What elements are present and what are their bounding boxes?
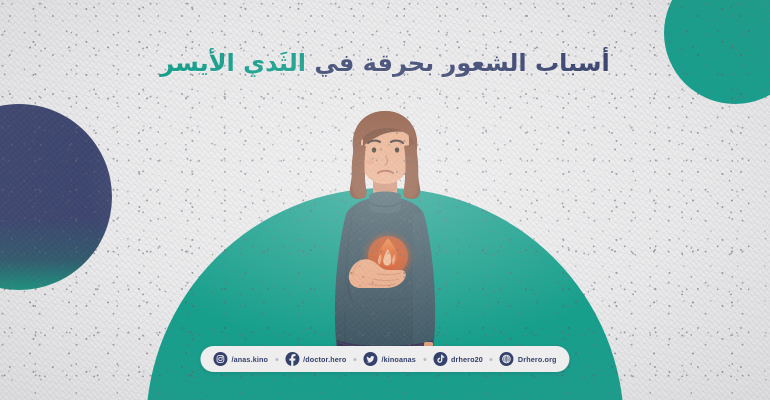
instagram-icon xyxy=(213,352,227,366)
facebook-icon xyxy=(285,352,299,366)
social-label-facebook: /doctor.hero xyxy=(303,355,346,364)
social-separator xyxy=(353,358,356,361)
social-item-facebook[interactable]: /doctor.hero xyxy=(285,352,346,366)
health-infographic-banner: أسباب الشعور بحرقة في الثَدي الأيسر xyxy=(0,0,770,400)
social-item-website[interactable]: Drhero.org xyxy=(500,352,557,366)
social-label-tiktok: drhero20 xyxy=(451,355,483,364)
social-item-twitter[interactable]: /kinoanas xyxy=(363,352,416,366)
page-title: أسباب الشعور بحرقة في الثَدي الأيسر xyxy=(0,48,770,78)
social-label-twitter: /kinoanas xyxy=(381,355,416,364)
website-icon xyxy=(500,352,514,366)
title-line: أسباب الشعور بحرقة في الثَدي الأيسر xyxy=(160,48,609,78)
title-segment-green: الثَدي الأيسر xyxy=(160,49,306,77)
social-separator xyxy=(275,358,278,361)
social-separator xyxy=(423,358,426,361)
twitter-icon xyxy=(363,352,377,366)
social-media-bar: /anas.kino /doctor.hero /kinoanas xyxy=(200,346,569,372)
social-label-instagram: /anas.kino xyxy=(231,355,268,364)
woman-holding-chest-illustration xyxy=(285,104,485,366)
social-item-tiktok[interactable]: drhero20 xyxy=(433,352,483,366)
tiktok-icon xyxy=(433,352,447,366)
social-label-website: Drhero.org xyxy=(518,355,557,364)
social-separator xyxy=(490,358,493,361)
title-segment-navy: أسباب الشعور بحرقة في xyxy=(314,49,609,77)
social-item-instagram[interactable]: /anas.kino xyxy=(213,352,268,366)
